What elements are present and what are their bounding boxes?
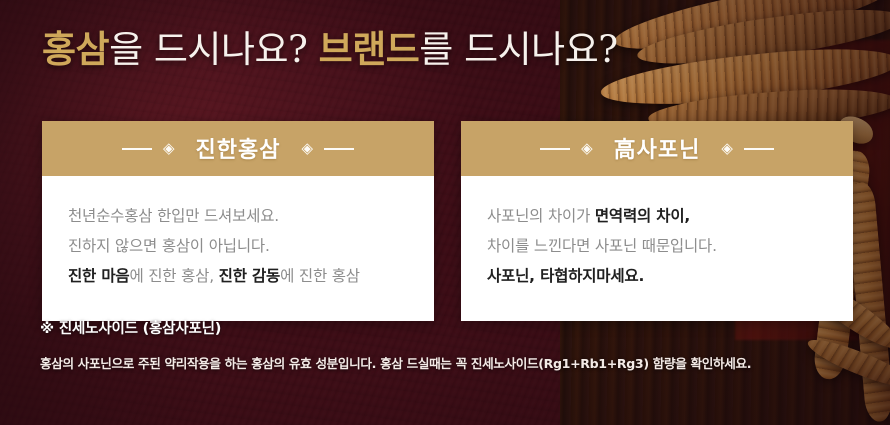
feature-card-group: ◈ 진한홍삼 ◈ 천년순수홍삼 한입만 드셔보세요. 진하지 않으면 홍삼이 아…: [42, 121, 853, 321]
footnote-description: 홍삼의 사포닌으로 주된 약리작용을 하는 홍삼의 유효 성분입니다. 홍삼 드…: [40, 353, 860, 372]
feature-card-jinhan-hongsam: ◈ 진한홍삼 ◈ 천년순수홍삼 한입만 드셔보세요. 진하지 않으면 홍삼이 아…: [42, 121, 434, 321]
headline-segment-1: 홍삼: [42, 27, 109, 71]
card-text-line: 진하지 않으면 홍삼이 아닙니다.: [68, 232, 434, 262]
card-text-part-bold: 진한 감동: [219, 267, 280, 285]
card-title: 진한홍삼: [186, 132, 291, 166]
card-text-line: 차이를 느낀다면 사포닌 때문입니다.: [487, 232, 853, 262]
headline: 홍삼을 드시나요? 브랜드를 드시나요?: [42, 28, 618, 72]
card-text-part: 차이를 느낀다면 사포닌 때문입니다.: [487, 237, 717, 255]
ginseng-promo-banner: 홍삼을 드시나요? 브랜드를 드시나요? ◈ 진한홍삼 ◈ 천년순수홍삼 한입만…: [0, 0, 890, 425]
card-header: ◈ 高사포닌 ◈: [461, 121, 853, 176]
footnote-title: 진세노사이드 (홍삼사포닌): [59, 321, 221, 337]
ornament-line-right: [324, 148, 354, 150]
ornament-line-left: [122, 148, 152, 150]
card-text-part-bold: 면역력의 차이,: [595, 207, 690, 225]
card-text-line: 사포닌, 타협하지마세요.: [487, 262, 853, 292]
feature-card-go-saponin: ◈ 高사포닌 ◈ 사포닌의 차이가 면역력의 차이, 차이를 느낀다면 사포닌 …: [461, 121, 853, 321]
card-text-part-bold: 진한 마음: [68, 267, 129, 285]
diamond-ornament-icon: ◈: [163, 141, 175, 156]
card-body: 천년순수홍삼 한입만 드셔보세요. 진하지 않으면 홍삼이 아닙니다. 진한 마…: [42, 176, 434, 321]
footnote: ※진세노사이드 (홍삼사포닌) 홍삼의 사포닌으로 주된 약리작용을 하는 홍삼…: [40, 317, 860, 372]
card-text-line: 사포닌의 차이가 면역력의 차이,: [487, 202, 853, 232]
diamond-ornament-icon: ◈: [301, 141, 313, 156]
card-body: 사포닌의 차이가 면역력의 차이, 차이를 느낀다면 사포닌 때문입니다. 사포…: [461, 176, 853, 321]
card-text-part-bold: 사포닌, 타협하지마세요.: [487, 267, 644, 285]
card-text-part: 천년순수홍삼 한입만 드셔보세요.: [68, 207, 279, 225]
footnote-title-row: ※진세노사이드 (홍삼사포닌): [40, 317, 860, 338]
card-text-line: 진한 마음에 진한 홍삼, 진한 감동에 진한 홍삼: [68, 262, 434, 292]
card-text-part: 에 진한 홍삼: [280, 267, 360, 285]
card-text-part: 에 진한 홍삼,: [129, 267, 218, 285]
ornament-line-left: [540, 148, 570, 150]
card-header: ◈ 진한홍삼 ◈: [42, 121, 434, 176]
card-title: 高사포닌: [604, 132, 711, 166]
ornament-line-right: [744, 148, 774, 150]
card-text-part: 진하지 않으면 홍삼이 아닙니다.: [68, 237, 270, 255]
headline-segment-3: 브랜드: [319, 27, 420, 71]
diamond-ornament-icon: ◈: [721, 141, 733, 156]
card-text-part: 사포닌의 차이가: [487, 207, 595, 225]
reference-mark-icon: ※: [40, 321, 54, 337]
headline-segment-4: 를 드시나요?: [419, 28, 617, 71]
card-text-line: 천년순수홍삼 한입만 드셔보세요.: [68, 202, 434, 232]
headline-segment-2: 을 드시나요?: [109, 28, 319, 71]
diamond-ornament-icon: ◈: [581, 141, 593, 156]
